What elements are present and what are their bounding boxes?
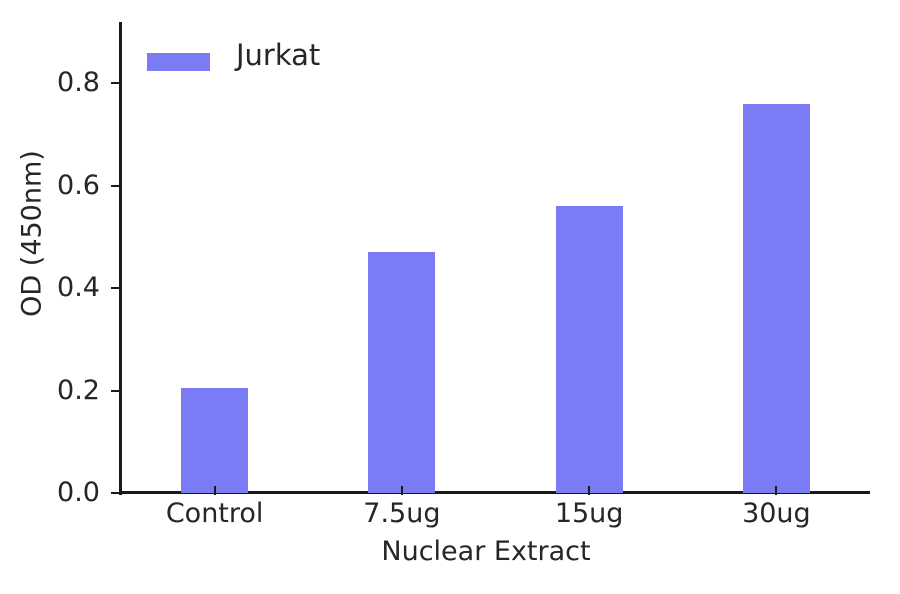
y-tick-label-2: 0.4: [8, 274, 100, 301]
x-tick-mark-3: [775, 486, 777, 495]
x-tick-label-15ug: 15ug: [555, 500, 624, 527]
x-axis-title: Nuclear Extract: [0, 538, 900, 565]
bar-control[interactable]: [181, 388, 248, 493]
y-tick-label-0: 0.0: [8, 479, 100, 506]
x-tick-label-30ug: 30ug: [742, 500, 811, 527]
y-tick-label-1: 0.2: [8, 377, 100, 404]
x-tick-label-7-5ug: 7.5ug: [363, 500, 440, 527]
plot-area: [121, 22, 870, 493]
bar-chart-figure: OD (450nm) 0.0 0.2 0.4 0.6 0.8 Control 7…: [0, 0, 900, 594]
y-tick-label-3: 0.6: [8, 172, 100, 199]
legend-swatch-jurkat: [147, 53, 210, 71]
x-axis-title-text: Nuclear Extract: [381, 538, 590, 565]
bar-7-5ug[interactable]: [368, 252, 435, 493]
x-tick-label-control: Control: [166, 500, 264, 527]
bar-30ug[interactable]: [743, 104, 810, 493]
legend-label-jurkat: Jurkat: [236, 41, 320, 70]
x-tick-mark-1: [401, 486, 403, 495]
x-tick-mark-0: [214, 486, 216, 495]
bar-15ug[interactable]: [556, 206, 623, 493]
chart-legend: Jurkat: [147, 40, 320, 71]
x-tick-mark-2: [588, 486, 590, 495]
y-tick-label-4: 0.8: [8, 69, 100, 96]
y-axis-title: OD (450nm): [19, 84, 46, 384]
